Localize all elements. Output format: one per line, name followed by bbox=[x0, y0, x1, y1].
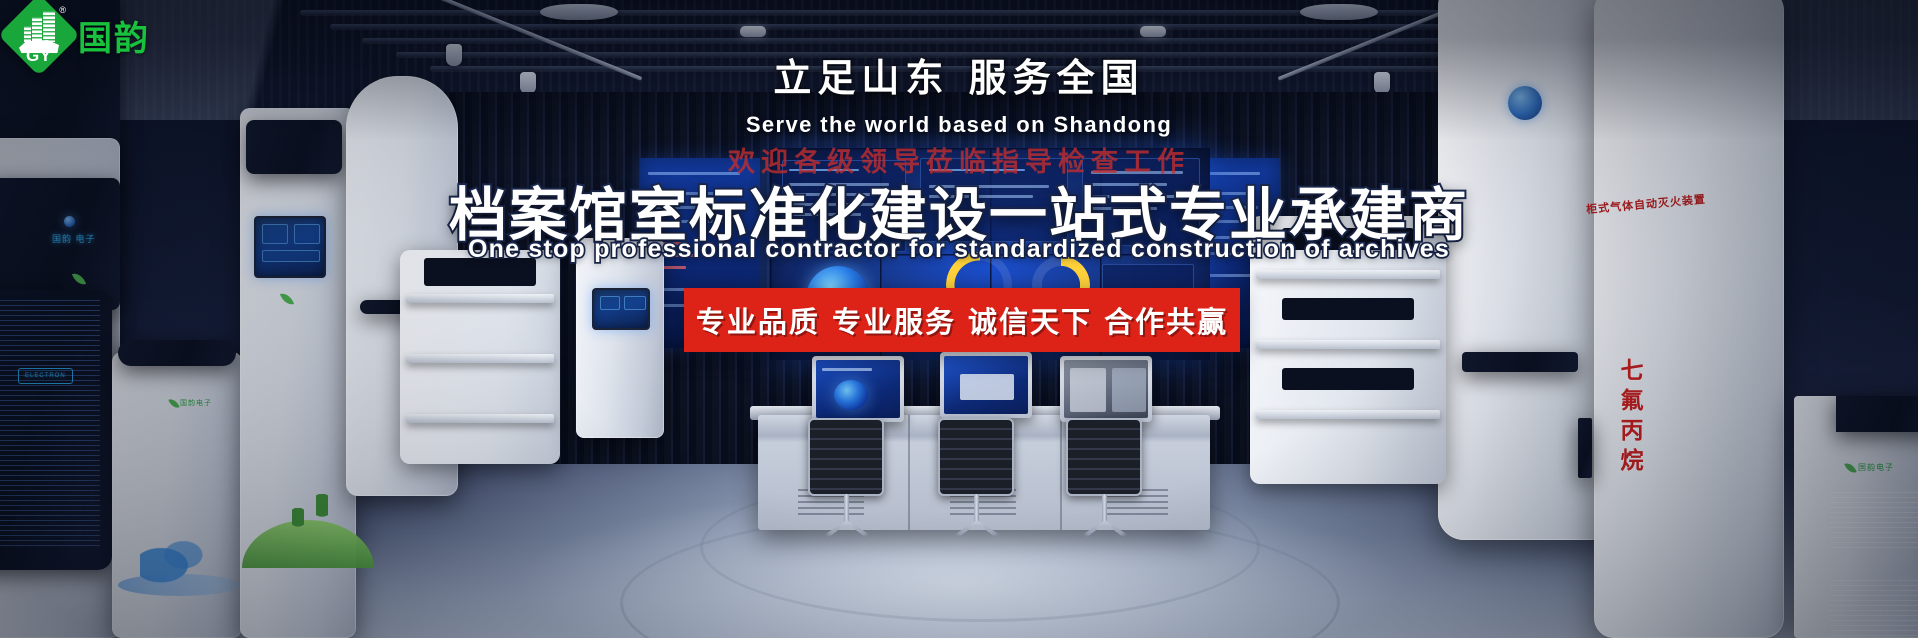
hero-kicker-cn: 立足山东 服务全国 bbox=[0, 47, 1918, 102]
logo-building-tall bbox=[43, 11, 55, 42]
ceiling-fan bbox=[1300, 4, 1378, 20]
pillar-vent bbox=[1462, 352, 1578, 372]
ceiling-fan bbox=[540, 4, 618, 20]
shelf-box bbox=[1282, 298, 1414, 320]
ac-vent-grille bbox=[1830, 580, 1918, 638]
dehumidifier-handle-recess bbox=[118, 340, 236, 366]
ceiling-light bbox=[740, 26, 766, 37]
green-hill-graphic bbox=[242, 520, 374, 568]
fire-cabinet-panel bbox=[1578, 418, 1592, 478]
hero-red-banner: 专业品质 专业服务 诚信天下 合作共赢 bbox=[684, 288, 1240, 352]
stand-screen bbox=[592, 288, 650, 330]
operator-chair bbox=[1058, 418, 1150, 546]
shelf-box bbox=[1282, 368, 1414, 390]
registered-mark: ® bbox=[59, 5, 66, 15]
ac-vent-grille bbox=[1830, 492, 1918, 552]
right-ac-top bbox=[1836, 396, 1918, 432]
right-unit-brand: 国韵电子 bbox=[1858, 462, 1894, 473]
wave-graphic bbox=[118, 574, 240, 596]
heptafluoropropane-label: 七氟丙烷 bbox=[1612, 358, 1646, 478]
logo-building-small bbox=[24, 26, 31, 42]
operator-chair bbox=[930, 418, 1022, 546]
electron-badge: ELECTRON bbox=[18, 368, 73, 384]
workstation-monitor bbox=[1060, 356, 1152, 422]
operator-chair bbox=[800, 418, 892, 546]
dehumidifier-unit bbox=[112, 352, 242, 638]
workstation-monitor bbox=[812, 356, 904, 422]
ceiling-plank bbox=[300, 10, 1620, 15]
hero-kicker-en: Serve the world based on Shandong bbox=[0, 112, 1918, 138]
tree-graphic bbox=[292, 508, 304, 534]
display-stand-left bbox=[576, 238, 664, 438]
tree-graphic bbox=[316, 494, 328, 526]
filter-vents bbox=[0, 300, 100, 550]
ceiling-light bbox=[1140, 26, 1166, 37]
workstation-monitor bbox=[940, 352, 1032, 418]
logo-building-mid bbox=[32, 17, 42, 42]
hero-banner: 国韵 电子 ELECTRON 国韵电子 bbox=[0, 0, 1918, 638]
device-brand-label: 国韵电子 bbox=[180, 398, 212, 408]
red-banner-text: 专业品质 专业服务 诚信天下 合作共赢 bbox=[696, 299, 1228, 341]
hero-subline-en: One stop professional contractor for sta… bbox=[0, 235, 1918, 264]
